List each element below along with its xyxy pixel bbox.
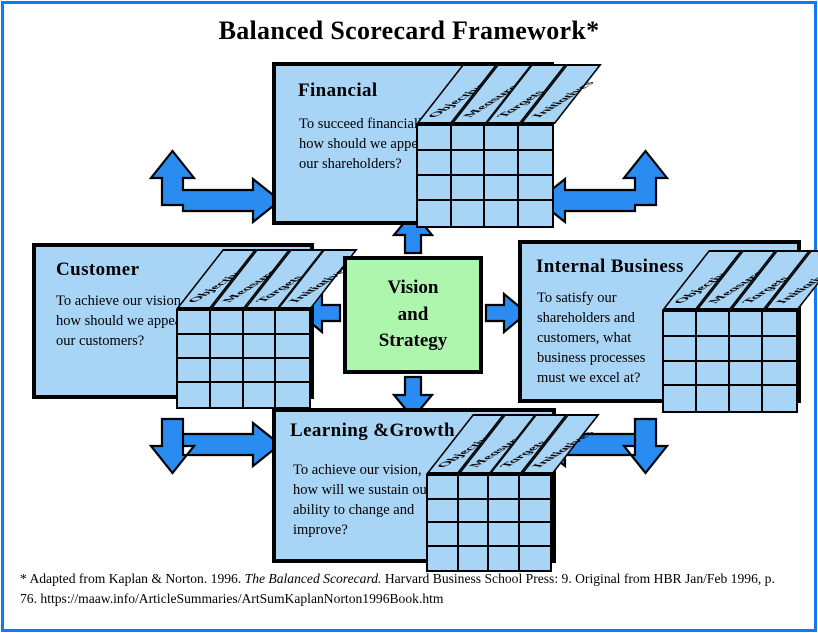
vision-line-2: and [398,302,429,329]
scorecard-cell[interactable] [452,201,486,226]
scorecard-cell[interactable] [211,311,244,335]
scorecard-column-headers: ObjectivesMeasuresTargetsInitiatives [416,64,601,124]
scorecard-cell[interactable] [276,359,309,383]
perspective-box-internal[interactable]: Internal Business To satisfy our shareho… [518,240,801,403]
scorecard-cell[interactable] [763,312,796,337]
scorecard-cell[interactable] [519,176,553,201]
scorecard-cell[interactable] [664,386,697,411]
scorecard-cell[interactable] [520,523,551,547]
scorecard-cell[interactable] [489,523,520,547]
scorecard-cell-grid [416,124,554,228]
scorecard-cell[interactable] [763,386,796,411]
scorecard-cell[interactable] [244,311,277,335]
scorecard-cell[interactable] [485,176,519,201]
scorecard-cell[interactable] [730,337,763,362]
scorecard-cell[interactable] [211,383,244,407]
scorecard-cell[interactable] [697,337,730,362]
scorecard-cell[interactable] [418,151,452,176]
scorecard-cell[interactable] [452,176,486,201]
arrow-customer-financial [151,151,280,222]
scorecard-cell[interactable] [178,383,211,407]
perspective-box-financial[interactable]: Financial To succeed financially, how sh… [272,62,554,225]
scorecard-cell[interactable] [730,362,763,387]
scorecard-cell-grid [426,474,552,572]
scorecard-cell[interactable] [697,386,730,411]
scorecard-cell[interactable] [520,476,551,500]
scorecard-cell[interactable] [485,201,519,226]
scorecard-cell[interactable] [418,176,452,201]
scorecard-column-headers: ObjectivesMeasuresTargetsInitiatives [662,250,818,310]
scorecard-cell[interactable] [485,151,519,176]
scorecard-cell[interactable] [244,335,277,359]
scorecard-cell[interactable] [244,383,277,407]
scorecard-cell[interactable] [697,312,730,337]
scorecard-column-headers: ObjectivesMeasuresTargetsInitiatives [426,414,599,474]
vision-and-strategy-box[interactable]: Vision and Strategy [343,256,483,374]
scorecard-cell[interactable] [459,547,490,571]
scorecard-cell[interactable] [211,335,244,359]
scorecard-column-headers: ObjectivesMeasuresTargetsInitiatives [176,249,358,309]
scorecard-cell[interactable] [276,311,309,335]
perspective-box-learning[interactable]: Learning &Growth To achieve our vision, … [272,408,556,563]
footnote-citation: * Adapted from Kaplan & Norton. 1996. Th… [20,569,792,608]
scorecard-cell[interactable] [730,386,763,411]
scorecard-cell[interactable] [211,359,244,383]
scorecard-cell[interactable] [178,335,211,359]
scorecard-cell[interactable] [459,476,490,500]
scorecard-cell[interactable] [763,337,796,362]
scorecard-cell-grid [176,309,311,409]
perspective-title: Customer [56,259,139,281]
scorecard-cell[interactable] [489,500,520,524]
scorecard-cell[interactable] [697,362,730,387]
vision-line-3: Strategy [379,328,448,355]
scorecard-cell[interactable] [664,337,697,362]
perspective-title: Financial [298,80,378,102]
scorecard-cell[interactable] [418,126,452,151]
scorecard-cell[interactable] [520,547,551,571]
scorecard-cell[interactable] [452,126,486,151]
scorecard-cell[interactable] [428,523,459,547]
scorecard-cell[interactable] [519,201,553,226]
footnote-book-title: The Balanced Scorecard. [245,571,382,586]
scorecard-cell[interactable] [519,151,553,176]
scorecard-cell[interactable] [418,201,452,226]
scorecard-cell[interactable] [428,476,459,500]
balanced-scorecard-diagram: Balanced Scorecard Framework* Financial … [0,0,818,633]
scorecard-cell[interactable] [276,335,309,359]
scorecard-cell[interactable] [763,362,796,387]
scorecard-cell[interactable] [244,359,277,383]
scorecard-cell[interactable] [459,500,490,524]
scorecard-cell[interactable] [664,312,697,337]
page-title: Balanced Scorecard Framework* [0,16,818,46]
scorecard-cell[interactable] [664,362,697,387]
scorecard-cell[interactable] [485,126,519,151]
perspective-question: To satisfy our shareholders and customer… [537,288,675,388]
scorecard-cell[interactable] [452,151,486,176]
scorecard-cell[interactable] [428,547,459,571]
scorecard-cell[interactable] [428,500,459,524]
scorecard-cell-grid [662,310,798,413]
scorecard-cell[interactable] [519,126,553,151]
vision-line-1: Vision [387,275,438,302]
arrow-customer-learning [151,419,280,473]
scorecard-cell[interactable] [489,476,520,500]
scorecard-cell[interactable] [178,359,211,383]
scorecard-cell[interactable] [489,547,520,571]
scorecard-cell[interactable] [459,523,490,547]
scorecard-cell[interactable] [520,500,551,524]
arrow-financial-internal [538,151,667,222]
scorecard-cell[interactable] [730,312,763,337]
perspective-box-customer[interactable]: Customer To achieve our vision, how shou… [32,243,314,399]
perspective-question: To achieve our vision, how will we susta… [293,460,438,540]
footnote-part1: * Adapted from Kaplan & Norton. 1996. [20,571,245,586]
scorecard-cell[interactable] [178,311,211,335]
scorecard-cell[interactable] [276,383,309,407]
